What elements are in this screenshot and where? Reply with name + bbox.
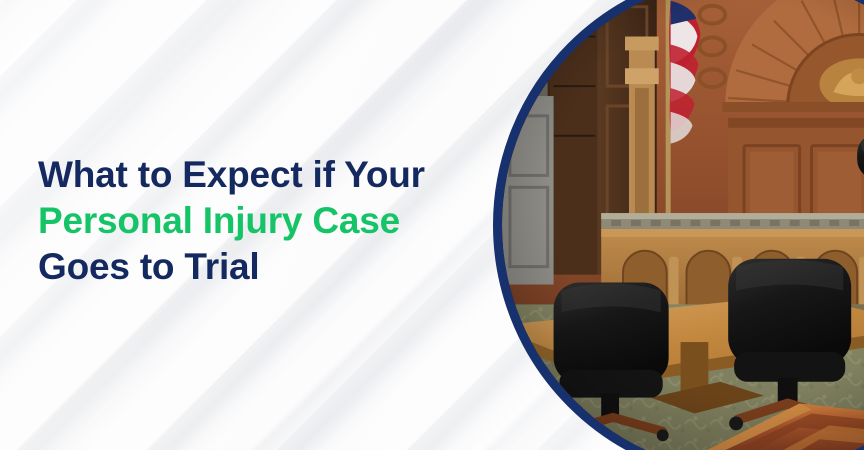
courtroom-illustration bbox=[502, 0, 864, 450]
headline-line-1: What to Expect if Your bbox=[38, 152, 478, 198]
headline-line-2-highlight: Personal Injury Case bbox=[38, 198, 478, 244]
headline-line-3: Goes to Trial bbox=[38, 244, 478, 290]
blog-hero-banner: What to Expect if Your Personal Injury C… bbox=[0, 0, 864, 450]
page-title: What to Expect if Your Personal Injury C… bbox=[38, 152, 478, 290]
courtroom-photo bbox=[502, 0, 864, 450]
courtroom-photo-circle bbox=[493, 0, 864, 450]
